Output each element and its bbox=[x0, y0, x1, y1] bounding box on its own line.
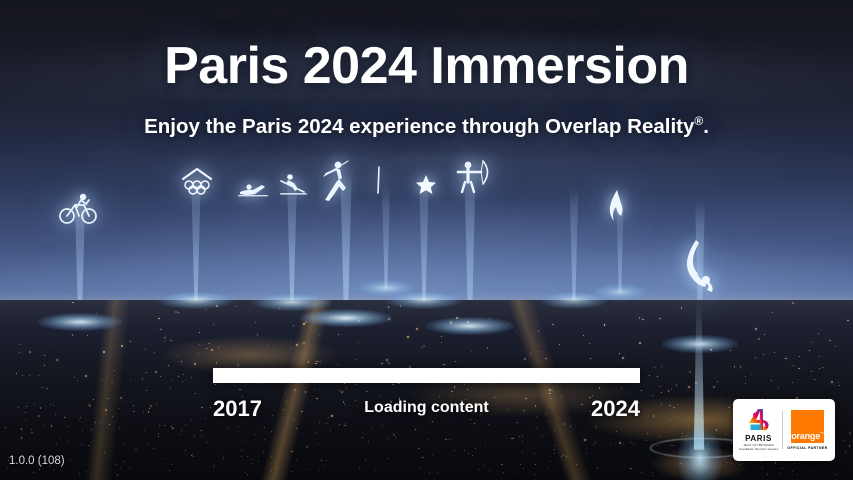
city-light bbox=[686, 435, 687, 436]
city-light bbox=[449, 439, 450, 440]
city-light bbox=[511, 438, 512, 439]
city-light bbox=[809, 350, 810, 351]
city-light bbox=[146, 390, 147, 391]
city-light bbox=[398, 383, 400, 385]
city-light bbox=[145, 349, 146, 350]
city-light bbox=[812, 342, 813, 343]
city-light bbox=[407, 336, 409, 338]
city-light bbox=[158, 433, 159, 434]
city-light bbox=[129, 467, 130, 468]
city-light bbox=[652, 395, 653, 396]
city-light bbox=[198, 353, 199, 354]
city-light bbox=[646, 440, 647, 441]
subtitle-period: . bbox=[703, 115, 709, 138]
city-light bbox=[116, 464, 117, 465]
city-light bbox=[400, 305, 402, 307]
city-light bbox=[680, 463, 681, 464]
city-light bbox=[319, 361, 321, 363]
city-light bbox=[844, 440, 845, 441]
city-light bbox=[441, 336, 442, 337]
city-light bbox=[674, 445, 675, 446]
city-light bbox=[200, 430, 201, 431]
city-light bbox=[421, 457, 422, 458]
city-light bbox=[135, 449, 136, 450]
city-light bbox=[201, 436, 202, 437]
city-light bbox=[772, 312, 773, 313]
city-light bbox=[467, 389, 468, 390]
city-light bbox=[7, 467, 8, 468]
city-light bbox=[418, 448, 419, 449]
city-light bbox=[305, 391, 306, 392]
city-light bbox=[845, 451, 846, 452]
city-light bbox=[258, 383, 259, 384]
city-light bbox=[703, 422, 704, 423]
city-light bbox=[464, 450, 465, 451]
city-light bbox=[80, 417, 81, 418]
city-light bbox=[263, 452, 264, 453]
city-light bbox=[381, 363, 383, 365]
city-light bbox=[111, 382, 113, 384]
city-light bbox=[239, 389, 240, 390]
city-light bbox=[142, 378, 143, 379]
city-light bbox=[595, 442, 596, 443]
city-light bbox=[451, 391, 452, 392]
city-light bbox=[205, 309, 206, 310]
city-light bbox=[130, 379, 131, 380]
city-light bbox=[91, 474, 92, 475]
city-light bbox=[223, 459, 224, 460]
city-light bbox=[223, 457, 224, 458]
city-light bbox=[593, 444, 594, 445]
city-light bbox=[319, 422, 320, 423]
city-light bbox=[849, 433, 850, 434]
city-light bbox=[318, 444, 319, 445]
city-light bbox=[182, 381, 183, 382]
city-light bbox=[550, 461, 551, 462]
city-light bbox=[68, 441, 69, 442]
city-light bbox=[16, 373, 17, 374]
city-light bbox=[520, 464, 521, 465]
city-light bbox=[681, 307, 683, 309]
city-light bbox=[771, 380, 772, 381]
loading-screen: Paris 2024 Immersion Enjoy the Paris 202… bbox=[0, 0, 853, 480]
city-light bbox=[616, 431, 617, 432]
city-light bbox=[778, 387, 779, 388]
city-light bbox=[314, 389, 315, 390]
city-light bbox=[576, 464, 577, 465]
city-light bbox=[564, 423, 565, 424]
city-light bbox=[70, 459, 71, 460]
city-light bbox=[238, 426, 239, 427]
city-light bbox=[554, 453, 555, 454]
city-light bbox=[522, 441, 523, 442]
city-light bbox=[5, 427, 6, 428]
city-light bbox=[315, 432, 316, 433]
city-light bbox=[144, 430, 145, 431]
city-light bbox=[570, 426, 571, 427]
city-light bbox=[154, 352, 155, 353]
city-light bbox=[172, 428, 173, 429]
city-light bbox=[33, 472, 34, 473]
city-light bbox=[339, 390, 340, 391]
city-light bbox=[303, 342, 305, 344]
city-light bbox=[206, 348, 207, 349]
city-light bbox=[439, 396, 440, 397]
city-light bbox=[474, 423, 475, 424]
city-light bbox=[393, 434, 394, 435]
city-light bbox=[181, 430, 182, 431]
city-light bbox=[64, 417, 65, 418]
city-light bbox=[633, 444, 634, 445]
city-light bbox=[277, 467, 278, 468]
city-light bbox=[358, 320, 360, 322]
city-light bbox=[517, 422, 518, 423]
city-light bbox=[657, 445, 658, 446]
city-light bbox=[241, 450, 242, 451]
loading-progress-fill bbox=[214, 369, 639, 382]
city-light bbox=[366, 391, 368, 393]
city-light bbox=[96, 313, 97, 314]
city-light bbox=[478, 469, 479, 470]
city-light bbox=[19, 344, 20, 345]
city-light bbox=[445, 364, 446, 365]
city-light bbox=[764, 334, 765, 335]
city-light bbox=[337, 364, 338, 365]
city-light bbox=[171, 426, 172, 427]
city-light bbox=[661, 366, 662, 367]
city-light bbox=[293, 325, 294, 326]
city-light bbox=[375, 470, 376, 471]
city-light bbox=[589, 343, 591, 345]
city-light bbox=[838, 382, 839, 383]
city-light bbox=[472, 455, 473, 456]
city-light bbox=[775, 462, 776, 463]
city-light bbox=[649, 375, 650, 376]
city-light bbox=[542, 435, 543, 436]
city-light bbox=[630, 468, 631, 469]
city-light bbox=[799, 356, 801, 358]
city-light bbox=[362, 437, 363, 438]
city-light bbox=[306, 447, 307, 448]
city-light bbox=[386, 359, 388, 361]
city-light bbox=[710, 349, 711, 350]
city-light bbox=[394, 435, 395, 436]
city-light bbox=[503, 472, 504, 473]
road-light-trails bbox=[0, 300, 853, 480]
city-light bbox=[441, 342, 442, 343]
city-light bbox=[214, 465, 215, 466]
city-light bbox=[258, 461, 259, 462]
city-light bbox=[252, 463, 253, 464]
city-light bbox=[731, 463, 732, 464]
city-light bbox=[109, 424, 110, 425]
city-light bbox=[21, 437, 22, 438]
city-light bbox=[44, 365, 45, 366]
city-light bbox=[535, 474, 536, 475]
city-light bbox=[29, 351, 31, 353]
city-light bbox=[730, 350, 731, 351]
loading-status-label: Loading content bbox=[0, 399, 853, 417]
city-light bbox=[610, 443, 611, 444]
city-light bbox=[416, 328, 418, 330]
city-light bbox=[724, 459, 725, 460]
city-light bbox=[382, 425, 383, 426]
city-light bbox=[168, 365, 169, 366]
city-light bbox=[421, 347, 422, 348]
city-light bbox=[294, 419, 295, 420]
city-light bbox=[31, 432, 32, 433]
city-light bbox=[517, 473, 518, 474]
city-light bbox=[631, 442, 632, 443]
city-light bbox=[218, 347, 219, 348]
city-light bbox=[29, 375, 30, 376]
city-light bbox=[619, 442, 620, 443]
city-light bbox=[767, 474, 768, 475]
city-light bbox=[670, 419, 671, 420]
city-light bbox=[43, 425, 44, 426]
city-light bbox=[819, 356, 820, 357]
city-light bbox=[86, 471, 87, 472]
city-light bbox=[178, 312, 179, 313]
city-light bbox=[740, 464, 741, 465]
city-light bbox=[171, 464, 172, 465]
city-light bbox=[14, 470, 15, 471]
city-light bbox=[326, 460, 327, 461]
city-light bbox=[396, 437, 397, 438]
city-light bbox=[195, 393, 196, 394]
city-light bbox=[305, 321, 307, 323]
city-light bbox=[847, 320, 849, 322]
city-light bbox=[464, 384, 465, 385]
loading-progress-bar bbox=[213, 368, 640, 383]
city-light bbox=[690, 449, 691, 450]
city-light bbox=[467, 321, 469, 323]
city-light bbox=[797, 474, 798, 475]
city-light bbox=[671, 389, 672, 390]
city-light bbox=[79, 419, 80, 420]
city-light bbox=[178, 376, 179, 377]
paris-2024-logo: PARIS JEUX OLYMPIQUES Candidate Olympic … bbox=[736, 408, 782, 452]
city-light bbox=[296, 428, 297, 429]
city-light bbox=[713, 386, 715, 388]
city-light bbox=[586, 453, 587, 454]
city-light bbox=[335, 317, 336, 318]
city-light bbox=[725, 434, 726, 435]
city-light bbox=[534, 393, 535, 394]
city-light bbox=[814, 379, 815, 380]
city-light bbox=[271, 471, 272, 472]
city-light bbox=[561, 456, 562, 457]
city-light bbox=[315, 363, 317, 365]
city-light bbox=[450, 321, 452, 323]
city-light bbox=[77, 380, 78, 381]
city-light bbox=[164, 341, 165, 342]
city-light bbox=[72, 334, 74, 336]
city-light bbox=[681, 353, 682, 354]
city-light bbox=[707, 467, 708, 468]
city-light bbox=[755, 328, 757, 330]
city-light bbox=[455, 361, 456, 362]
city-light bbox=[647, 433, 648, 434]
city-light bbox=[247, 474, 248, 475]
city-light bbox=[292, 451, 293, 452]
city-light bbox=[707, 444, 708, 445]
city-light bbox=[850, 432, 851, 433]
city-light bbox=[534, 453, 535, 454]
city-light bbox=[365, 459, 366, 460]
city-light bbox=[716, 429, 717, 430]
city-light bbox=[124, 461, 125, 462]
city-light bbox=[522, 436, 523, 437]
page-title: Paris 2024 Immersion bbox=[0, 36, 853, 96]
city-light bbox=[415, 429, 416, 430]
city-light bbox=[164, 425, 165, 426]
city-light bbox=[338, 334, 339, 335]
city-light bbox=[641, 472, 642, 473]
city-light bbox=[164, 337, 166, 339]
city-light bbox=[215, 384, 216, 385]
city-light bbox=[358, 342, 359, 343]
city-light bbox=[326, 423, 327, 424]
city-light bbox=[501, 464, 502, 465]
city-light bbox=[359, 468, 360, 469]
city-light bbox=[760, 461, 761, 462]
city-light bbox=[423, 345, 425, 347]
city-light bbox=[285, 393, 286, 394]
city-light bbox=[695, 382, 697, 384]
city-light bbox=[379, 396, 380, 397]
city-light bbox=[566, 456, 567, 457]
city-light bbox=[319, 335, 320, 336]
city-light bbox=[183, 374, 184, 375]
city-light bbox=[561, 396, 562, 397]
city-light bbox=[88, 445, 89, 446]
city-light bbox=[237, 364, 239, 366]
city-light bbox=[554, 430, 555, 431]
city-light bbox=[339, 424, 340, 425]
city-light bbox=[456, 317, 458, 319]
city-light bbox=[102, 380, 103, 381]
city-light bbox=[596, 428, 597, 429]
city-light bbox=[271, 456, 272, 457]
city-light bbox=[207, 442, 208, 443]
city-light bbox=[659, 386, 660, 387]
city-light bbox=[172, 427, 173, 428]
city-light bbox=[659, 436, 660, 437]
city-light bbox=[185, 450, 186, 451]
progress-end-label: 2024 bbox=[591, 396, 640, 422]
city-light bbox=[194, 436, 195, 437]
city-light bbox=[355, 384, 356, 385]
city-light bbox=[549, 389, 551, 391]
city-light bbox=[147, 444, 148, 445]
city-light bbox=[726, 462, 727, 463]
city-light bbox=[829, 340, 830, 341]
city-light bbox=[652, 472, 653, 473]
city-light bbox=[523, 468, 524, 469]
city-light bbox=[50, 346, 51, 347]
city-light bbox=[774, 352, 775, 353]
city-light bbox=[538, 351, 539, 352]
city-light bbox=[307, 446, 308, 447]
city-light bbox=[745, 376, 746, 377]
city-light bbox=[228, 427, 229, 428]
city-light bbox=[199, 344, 200, 345]
city-light bbox=[659, 318, 660, 319]
city-light bbox=[681, 436, 682, 437]
city-light bbox=[235, 306, 236, 307]
city-light bbox=[475, 448, 476, 449]
city-light bbox=[199, 332, 200, 333]
city-light bbox=[688, 386, 690, 388]
city-light bbox=[170, 387, 171, 388]
partner-logo-card: PARIS JEUX OLYMPIQUES Candidate Olympic … bbox=[733, 399, 835, 461]
city-light bbox=[445, 439, 446, 440]
city-light bbox=[755, 357, 756, 358]
city-light bbox=[549, 421, 550, 422]
city-light bbox=[158, 436, 159, 437]
city-light bbox=[621, 388, 622, 389]
city-light bbox=[489, 318, 490, 319]
city-light bbox=[19, 352, 20, 353]
city-light bbox=[153, 448, 154, 449]
city-light bbox=[221, 454, 222, 455]
city-light bbox=[548, 467, 549, 468]
orange-square-icon: orange™ bbox=[791, 410, 824, 443]
city-light bbox=[388, 306, 389, 307]
city-light bbox=[471, 351, 472, 352]
city-light bbox=[454, 386, 455, 387]
city-light bbox=[267, 345, 268, 346]
city-light bbox=[559, 344, 560, 345]
city-light bbox=[177, 355, 178, 356]
city-light bbox=[657, 376, 658, 377]
city-light bbox=[693, 390, 694, 391]
city-light bbox=[642, 319, 644, 321]
city-light bbox=[536, 428, 537, 429]
city-light bbox=[74, 377, 75, 378]
city-light bbox=[291, 471, 292, 472]
city-light bbox=[91, 429, 92, 430]
city-light bbox=[489, 470, 490, 471]
paris-2024-emblem-icon bbox=[746, 408, 771, 434]
city-light bbox=[79, 473, 80, 474]
city-light bbox=[619, 353, 620, 354]
city-light bbox=[25, 419, 26, 420]
city-light bbox=[264, 439, 265, 440]
city-light bbox=[46, 388, 48, 390]
city-light bbox=[751, 374, 752, 375]
city-light bbox=[356, 359, 357, 360]
city-light bbox=[291, 348, 292, 349]
city-light bbox=[316, 361, 317, 362]
city-light bbox=[717, 381, 719, 383]
city-light bbox=[811, 371, 812, 372]
city-light bbox=[170, 340, 172, 342]
city-light bbox=[21, 428, 22, 429]
city-light bbox=[82, 430, 83, 431]
city-light bbox=[103, 351, 105, 353]
city-light bbox=[193, 456, 194, 457]
city-light bbox=[468, 453, 469, 454]
city-light bbox=[545, 358, 547, 360]
city-light bbox=[599, 387, 601, 389]
paris-sublabel: JEUX OLYMPIQUES Candidate Olympic Games bbox=[739, 444, 778, 452]
city-light bbox=[185, 424, 186, 425]
city-light bbox=[488, 424, 489, 425]
city-light bbox=[160, 329, 162, 331]
city-light bbox=[158, 318, 160, 320]
